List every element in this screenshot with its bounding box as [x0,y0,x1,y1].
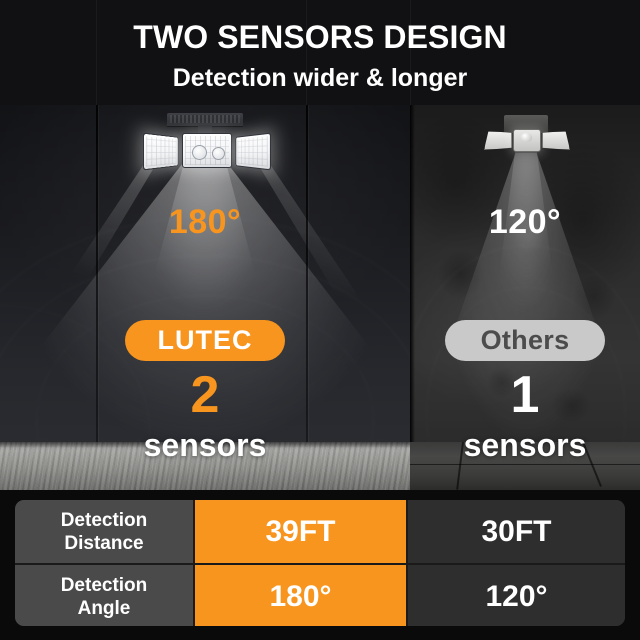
row-label-detection-angle: Detection Angle [15,565,193,626]
sensor-word-lutec: sensors [0,427,410,463]
led-head-right [542,131,570,150]
page-subtitle: Detection wider & longer [0,63,640,93]
detection-angle-label-lutec: 180° [0,203,410,242]
others-value-detection-distance: 30FT [408,500,625,563]
brand-badge-others: Others [445,320,605,361]
brand-badge-lutec: LUTEC [125,320,285,361]
cap-ribs [170,115,240,123]
infographic-page: TWO SENSORS DESIGN Detection wider & lon… [0,0,640,640]
row-label-detection-distance: Detection Distance [15,500,193,563]
comparison-table: Detection Distance 39FT 30FT Detection A… [15,500,625,626]
lutec-value-detection-angle: 180° [193,565,408,626]
scene-left-lutec: 180° LUTEC 2 sensors [0,105,410,490]
led-head-center [513,129,541,152]
row-label-line1: Detection [61,509,148,532]
header-banner: TWO SENSORS DESIGN Detection wider & lon… [0,0,640,105]
sensor-count-others: 1 [410,367,640,423]
triple-head-security-light-icon [480,115,572,161]
sensor-word-others: sensors [410,427,640,463]
others-value-detection-angle: 120° [408,565,625,626]
motion-sensor-icon [520,133,532,142]
lutec-value-detection-distance: 39FT [193,500,408,563]
row-label-line1: Detection [61,574,148,597]
led-grid [238,136,268,166]
led-grid [146,136,176,166]
led-head-left [143,133,178,171]
detection-angle-label-others: 120° [410,203,640,242]
scene-right-others: 120° Others 1 sensors [410,105,640,490]
row-label-line2: Distance [61,532,148,555]
led-head-right [236,133,271,171]
sensor-count-lutec: 2 [0,367,410,423]
table-row: Detection Angle 180° 120° [15,563,625,626]
comparison-scene: 180° LUTEC 2 sensors [0,105,640,490]
led-head-left [484,131,512,150]
page-title: TWO SENSORS DESIGN [0,18,640,56]
table-row: Detection Distance 39FT 30FT [15,500,625,563]
led-head-center [182,133,232,168]
motion-sensor-icon [192,145,207,160]
row-label-line2: Angle [61,597,148,620]
triple-head-security-light-icon [138,113,272,175]
motion-sensor-icon [212,147,225,160]
